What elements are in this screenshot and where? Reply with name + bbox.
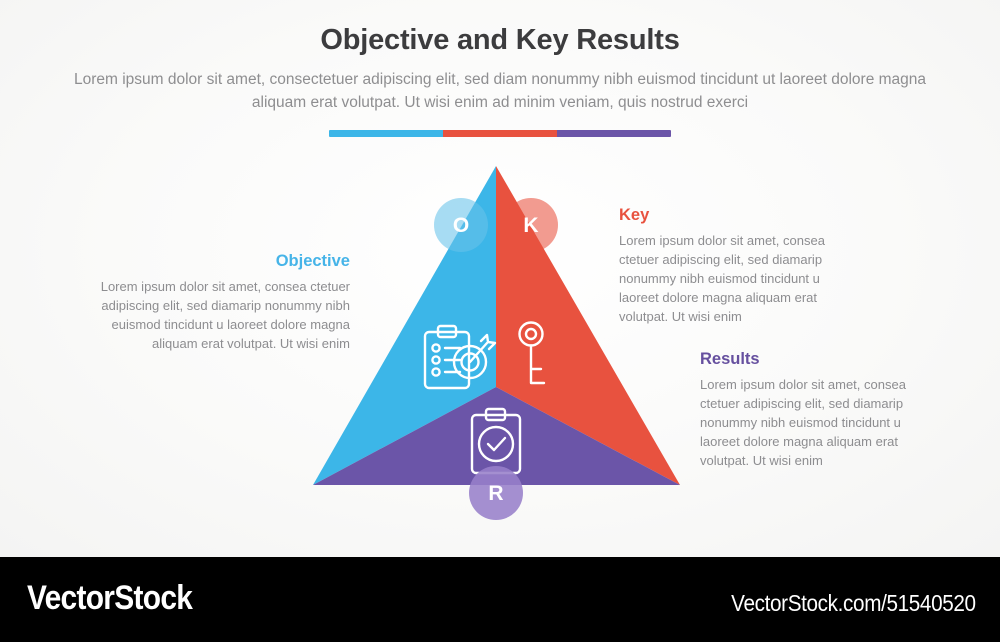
heading-results: Results (700, 350, 940, 368)
vectorstock-source-url: VectorStock.com/51540520 (731, 590, 976, 617)
infographic-canvas: Objective and Key Results Lorem ipsum do… (0, 0, 1000, 557)
heading-objective: Objective (95, 252, 350, 270)
divider-segment-red (443, 130, 557, 137)
page-title: Objective and Key Results (0, 24, 1000, 57)
heading-key: Key (619, 206, 859, 224)
vectorstock-logo: VectorStock (27, 579, 192, 618)
badge-objective[interactable]: O (434, 198, 488, 252)
page-subtitle: Lorem ipsum dolor sit amet, consectetuer… (60, 68, 940, 114)
badge-results-letter: R (488, 483, 503, 504)
text-block-objective: Objective Lorem ipsum dolor sit amet, co… (95, 252, 350, 353)
body-key: Lorem ipsum dolor sit amet, consea ctetu… (619, 231, 859, 326)
text-block-results: Results Lorem ipsum dolor sit amet, cons… (700, 350, 940, 470)
body-objective: Lorem ipsum dolor sit amet, consea ctetu… (95, 277, 350, 353)
body-results: Lorem ipsum dolor sit amet, consea ctetu… (700, 375, 940, 470)
watermark-footer: VectorStock VectorStock.com/51540520 (0, 557, 1000, 642)
divider-segment-blue (329, 130, 443, 137)
okr-triangle-diagram (288, 150, 708, 510)
screenshot-root: Objective and Key Results Lorem ipsum do… (0, 0, 1000, 642)
badge-key-letter: K (523, 215, 538, 236)
divider-segment-purple (557, 130, 671, 137)
badge-key[interactable]: K (504, 198, 558, 252)
badge-objective-letter: O (453, 215, 469, 236)
badge-results[interactable]: R (469, 466, 523, 520)
text-block-key: Key Lorem ipsum dolor sit amet, consea c… (619, 206, 859, 326)
tricolor-divider (329, 130, 671, 137)
